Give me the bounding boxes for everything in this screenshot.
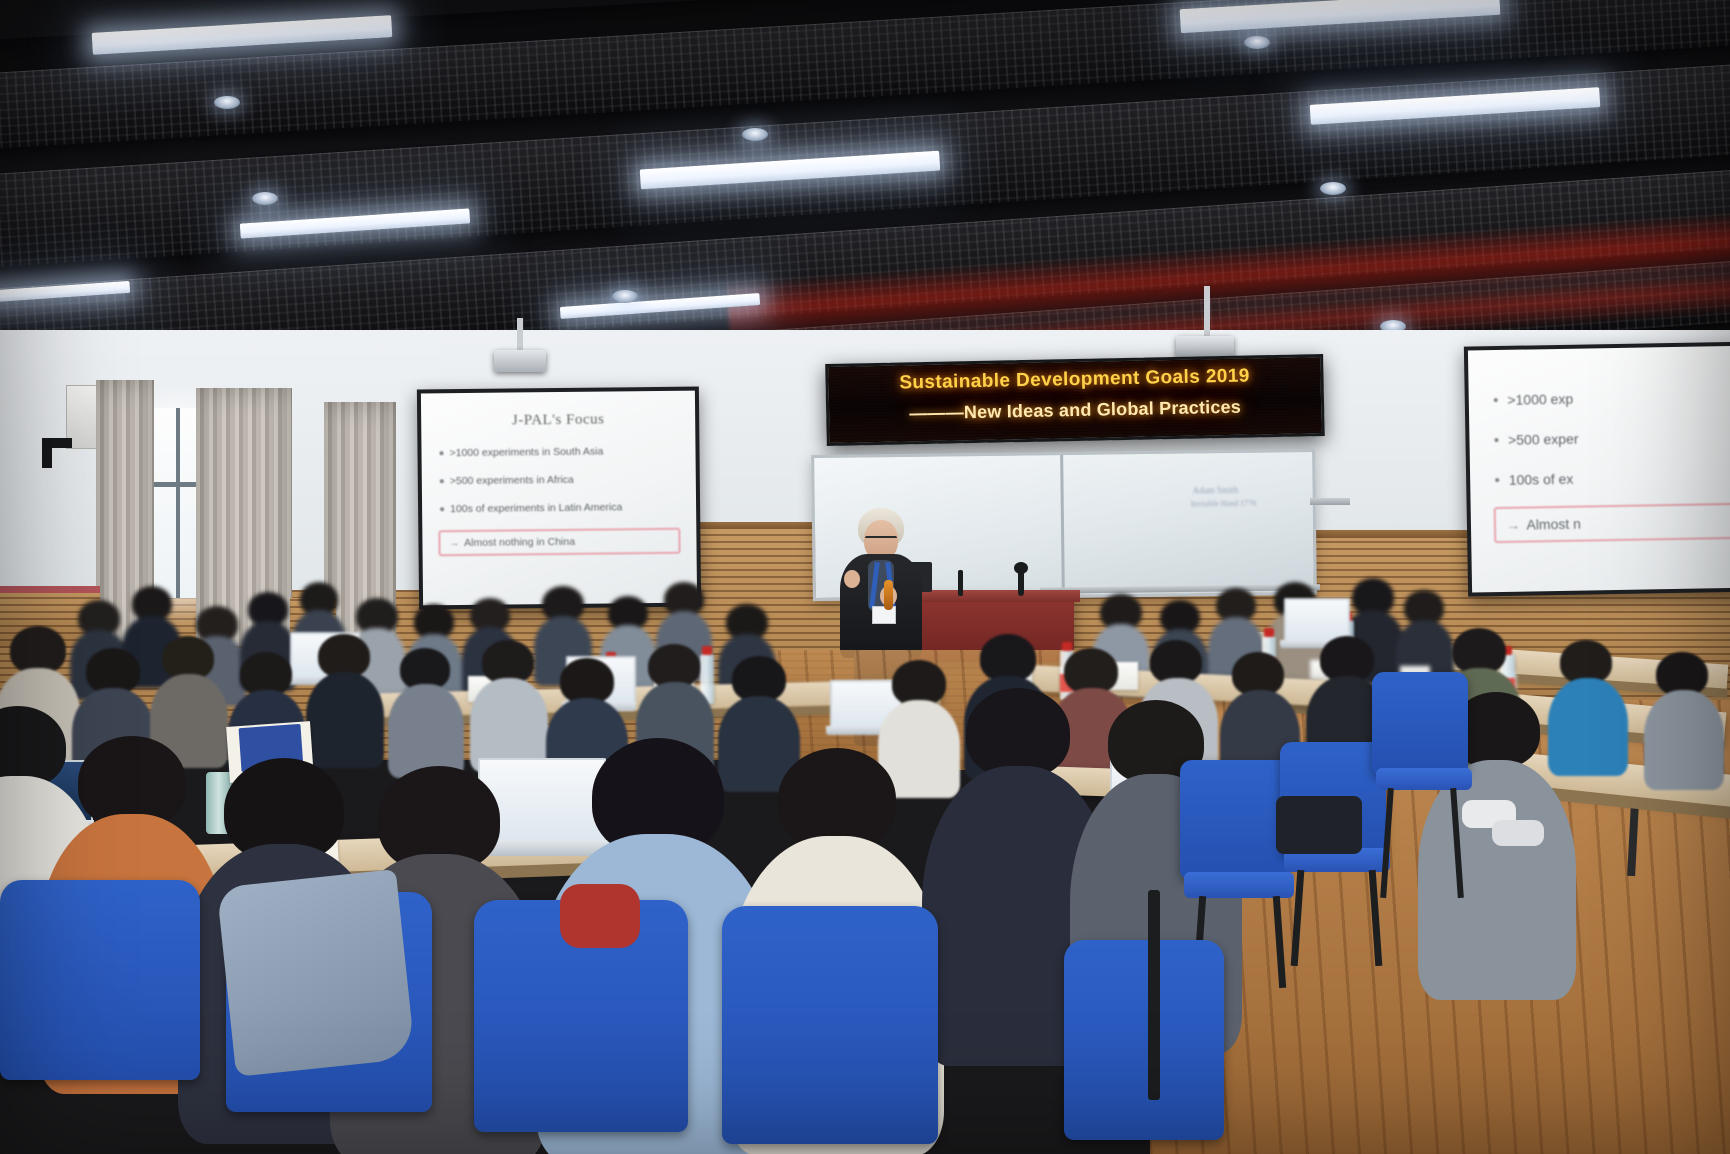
projector-ceiling-mount [1204, 286, 1210, 338]
list-item: >1000 experiments in South Asia [438, 443, 679, 460]
speaker-bracket [42, 438, 52, 468]
whiteboard-writing: Adam Smith [1193, 485, 1239, 496]
slide-title: J-PAL's Focus [438, 410, 679, 430]
slide-right: >1000 exp >500 exper 100s of ex → Almost… [1468, 345, 1730, 592]
projection-screen-right: >1000 exp >500 exper 100s of ex → Almost… [1468, 345, 1730, 592]
slide-bullet-list: >1000 exp >500 exper 100s of ex [1492, 386, 1730, 489]
draped-jacket [560, 884, 640, 948]
presenter-glasses [865, 536, 897, 545]
slide-highlight-text: Almost n [1526, 516, 1581, 533]
floor-microphone-stand [1148, 890, 1160, 1100]
lecture-hall-photo: Sustainable Development Goals 2019 confe… [0, 0, 1730, 1154]
whiteboard-tray [1310, 498, 1350, 505]
ceiling [0, 0, 1730, 380]
shoe [1492, 820, 1544, 846]
ceiling-downlight [214, 96, 240, 109]
projector-left [494, 350, 546, 372]
led-banner-line-1: Sustainable Development Goals 2019 [828, 364, 1320, 396]
ceiling-downlight [612, 290, 638, 303]
led-banner: Sustainable Development Goals 2019 ———Ne… [825, 354, 1325, 446]
led-banner-line-2: ———New Ideas and Global Practices [829, 395, 1321, 426]
slide-highlight-box: → Almost nothing in China [439, 528, 680, 557]
projector-ceiling-mount [517, 318, 523, 352]
whiteboard-writing: Invisible Hand 1776 [1191, 499, 1256, 509]
slide-highlight-text: Almost nothing in China [464, 536, 575, 549]
ceiling-downlight [1320, 182, 1346, 195]
draped-jacket [217, 869, 416, 1077]
list-item: >1000 exp [1492, 386, 1730, 408]
ceiling-downlight [1244, 36, 1270, 49]
list-item: 100s of experiments in Latin America [438, 500, 679, 517]
projection-screen-right-frame: >1000 exp >500 exper 100s of ex → Almost… [1464, 341, 1730, 596]
arrow-right-icon: → [449, 537, 460, 549]
list-item: >500 experiments in Africa [438, 472, 679, 489]
arrow-right-icon: → [1506, 517, 1520, 533]
ceiling-downlight [742, 128, 768, 141]
list-item: >500 exper [1493, 427, 1730, 449]
list-item: 100s of ex [1493, 467, 1730, 489]
slide-bullet-list: >1000 experiments in South Asia >500 exp… [438, 443, 680, 516]
ceiling-downlight [252, 192, 278, 205]
slide-highlight-box: → Almost n [1494, 503, 1730, 543]
bag [1276, 796, 1362, 854]
